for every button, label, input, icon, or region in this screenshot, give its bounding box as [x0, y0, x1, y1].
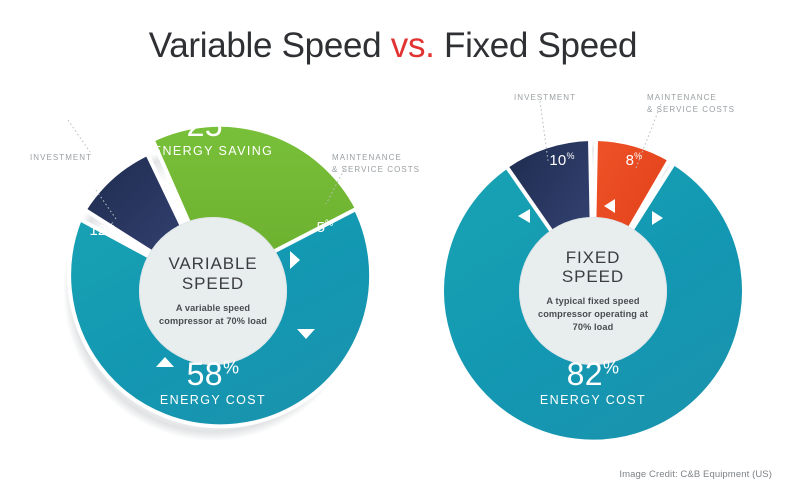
hub-title-line1: FIXED	[562, 248, 624, 267]
title-vs: vs.	[391, 26, 435, 65]
callout-investment-right: INVESTMENT	[514, 92, 576, 104]
hub-subtitle-variable-speed: A variable speed compressor at 70% load	[139, 302, 287, 328]
infographic-canvas: Variable Speed vs. Fixed Speed	[0, 0, 786, 490]
hub-fixed-speed: FIXED SPEED A typical fixed speed compre…	[519, 217, 667, 365]
hub-title-fixed-speed: FIXED SPEED	[562, 248, 624, 286]
callout-investment-left: INVESTMENT	[30, 152, 92, 164]
callout-maintenance-left: MAINTENANCE & SERVICE COSTS	[332, 152, 420, 175]
hub-variable-speed: VARIABLE SPEED A variable speed compress…	[139, 217, 287, 365]
leader-investment	[68, 120, 90, 152]
callout-maintenance-right: MAINTENANCE & SERVICE COSTS	[647, 92, 735, 115]
donut-chart-variable-speed: VARIABLE SPEED A variable speed compress…	[38, 86, 388, 438]
image-credit: Image Credit: C&B Equipment (US)	[619, 469, 772, 480]
hub-title-line2: SPEED	[562, 267, 624, 286]
hub-title-line2: SPEED	[168, 274, 257, 293]
hub-title-line1: VARIABLE	[168, 254, 257, 273]
hub-title-variable-speed: VARIABLE SPEED	[168, 254, 257, 292]
hub-subtitle-fixed-speed: A typical fixed speed compressor operati…	[519, 295, 667, 334]
donut-chart-fixed-speed: FIXED SPEED A typical fixed speed compre…	[418, 86, 768, 438]
title-part-1: Variable Speed	[149, 26, 391, 65]
title-part-2: Fixed Speed	[435, 26, 638, 65]
page-title: Variable Speed vs. Fixed Speed	[0, 26, 786, 66]
